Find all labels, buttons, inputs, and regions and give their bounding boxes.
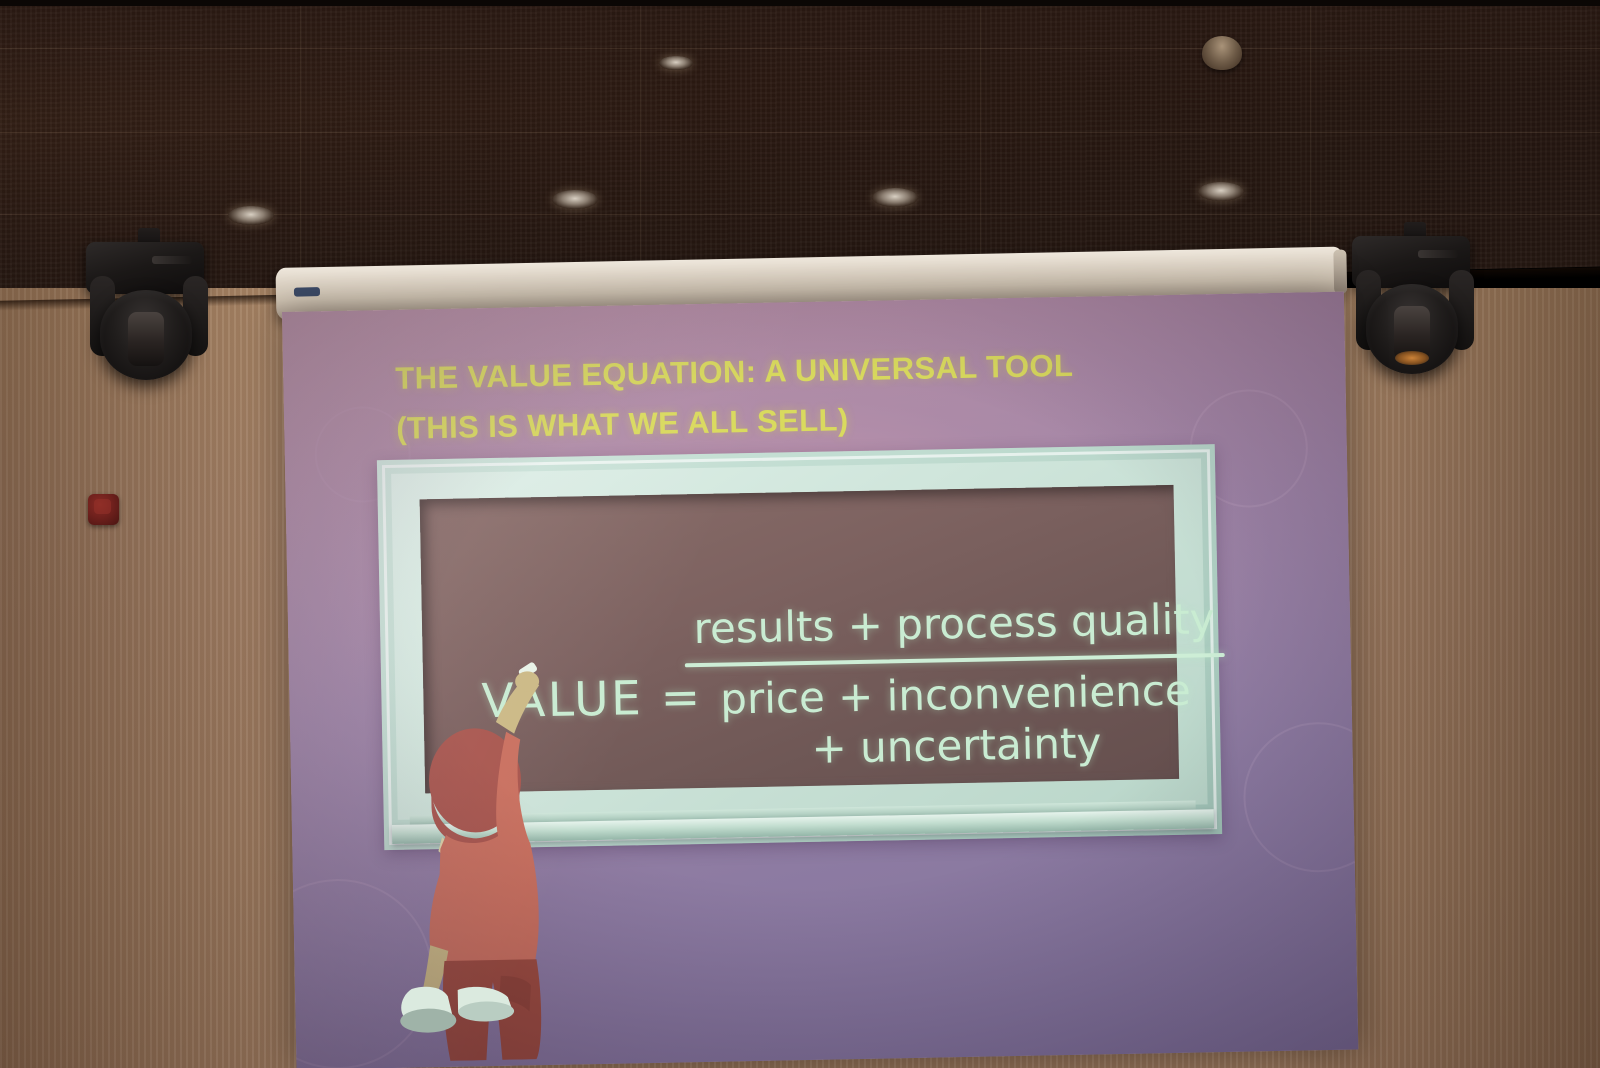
- light-head: [1366, 284, 1458, 374]
- recessed-downlight-icon: [1198, 182, 1244, 201]
- wall-shadow-left: [0, 288, 300, 1068]
- equation-fraction-bar: [685, 653, 1225, 667]
- recessed-downlight-icon: [552, 190, 598, 209]
- presentation-room-photo: THE VALUE EQUATION: A UNIVERSAL TOOL (TH…: [0, 0, 1600, 1068]
- slide-title-line-1: THE VALUE EQUATION: A UNIVERSAL TOOL: [395, 348, 1074, 396]
- slide-watermark-ring: [1242, 721, 1358, 874]
- equation-denominator-line-1: price + inconvenience: [685, 665, 1226, 724]
- ceiling-top-edge: [0, 0, 1600, 6]
- child-shoes: [395, 975, 526, 1037]
- moving-head-stage-light-left: [86, 228, 212, 386]
- recessed-downlight-icon: [872, 188, 918, 207]
- equation-denominator-line-2: + uncertainty: [686, 716, 1227, 775]
- equation-numerator: results + process quality: [684, 594, 1225, 653]
- projection-screen: THE VALUE EQUATION: A UNIVERSAL TOOL (TH…: [282, 292, 1358, 1068]
- equation-fraction: results + process quality price + inconv…: [684, 594, 1227, 775]
- emergency-button-icon[interactable]: [88, 494, 119, 525]
- moving-head-stage-light-right: [1352, 222, 1478, 380]
- recessed-downlight-icon: [228, 206, 274, 225]
- light-head: [100, 290, 192, 380]
- recessed-downlight-icon: [659, 56, 693, 70]
- slide-title: THE VALUE EQUATION: A UNIVERSAL TOOL (TH…: [395, 337, 1277, 454]
- roller-end-cap: [1333, 250, 1347, 294]
- slide-title-line-2: (THIS IS WHAT WE ALL SELL): [396, 387, 1277, 454]
- light-glow: [1395, 351, 1429, 365]
- smoke-detector-icon: [1202, 36, 1242, 70]
